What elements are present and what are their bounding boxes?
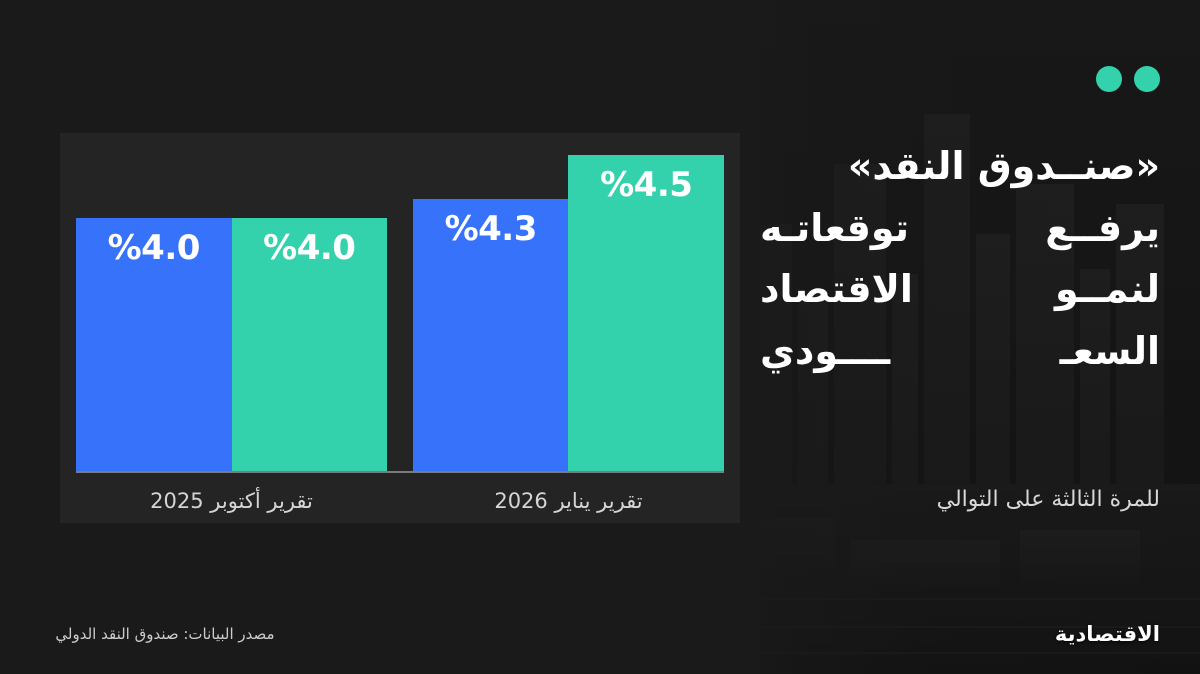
bar-january2026-series2026[interactable]: %4.5 — [568, 155, 724, 471]
x-axis-label-january-2026: تقرير يناير 2026 — [413, 489, 724, 513]
headline-line-3-word-1: لنمــو — [1055, 259, 1160, 321]
teal-dot-icon — [1096, 66, 1122, 92]
headline-line-2: يرفــع توقعاتـه — [760, 198, 1160, 260]
chart-plot-area: %4.0 %4.0 %4.3 %4.5 — [76, 155, 724, 471]
bar-chart-panel: 2026 2025 %4.0 %4.0 — [60, 133, 740, 523]
bar-value-label: %4.0 — [263, 228, 355, 471]
x-axis-label-october-2025: تقرير أكتوبر 2025 — [76, 489, 387, 513]
headline-line-4: السعـ ــــودي — [760, 321, 1160, 383]
headline-line-4-word-1: السعـ — [1060, 321, 1160, 383]
bar-value-label: %4.3 — [445, 209, 537, 471]
chart-baseline-axis — [76, 471, 724, 473]
headline-line-2-word-1: يرفــع — [1045, 198, 1160, 260]
headline: «صنــدوق النقد» يرفــع توقعاتـه لنمــو ا… — [760, 136, 1160, 382]
bar-october2025-series2026[interactable]: %4.0 — [232, 218, 388, 471]
decoration-dots — [1096, 66, 1160, 92]
headline-line-2-word-2: توقعاتـه — [760, 198, 909, 260]
brand-logo: الاقتصادية — [1055, 622, 1160, 646]
bar-value-label: %4.0 — [108, 228, 200, 471]
bar-group-october-2025: %4.0 %4.0 — [76, 155, 387, 471]
bar-january2026-series2025[interactable]: %4.3 — [413, 199, 569, 471]
teal-dot-icon — [1134, 66, 1160, 92]
bar-value-label: %4.5 — [600, 165, 692, 471]
data-source-note: مصدر البيانات: صندوق النقد الدولي — [0, 625, 330, 643]
bar-groups: %4.0 %4.0 %4.3 %4.5 — [76, 155, 724, 471]
headline-line-3: لنمــو الاقتصاد — [760, 259, 1160, 321]
headline-line-1: «صنــدوق النقد» — [760, 136, 1160, 198]
headline-subtitle: للمرة الثالثة على التوالي — [760, 487, 1160, 512]
chart-x-axis-labels: تقرير أكتوبر 2025 تقرير يناير 2026 — [76, 489, 724, 513]
bar-october2025-series2025[interactable]: %4.0 — [76, 218, 232, 471]
headline-line-4-word-2: ــــودي — [760, 321, 890, 383]
bar-group-january-2026: %4.3 %4.5 — [413, 155, 724, 471]
headline-line-3-word-2: الاقتصاد — [760, 259, 913, 321]
